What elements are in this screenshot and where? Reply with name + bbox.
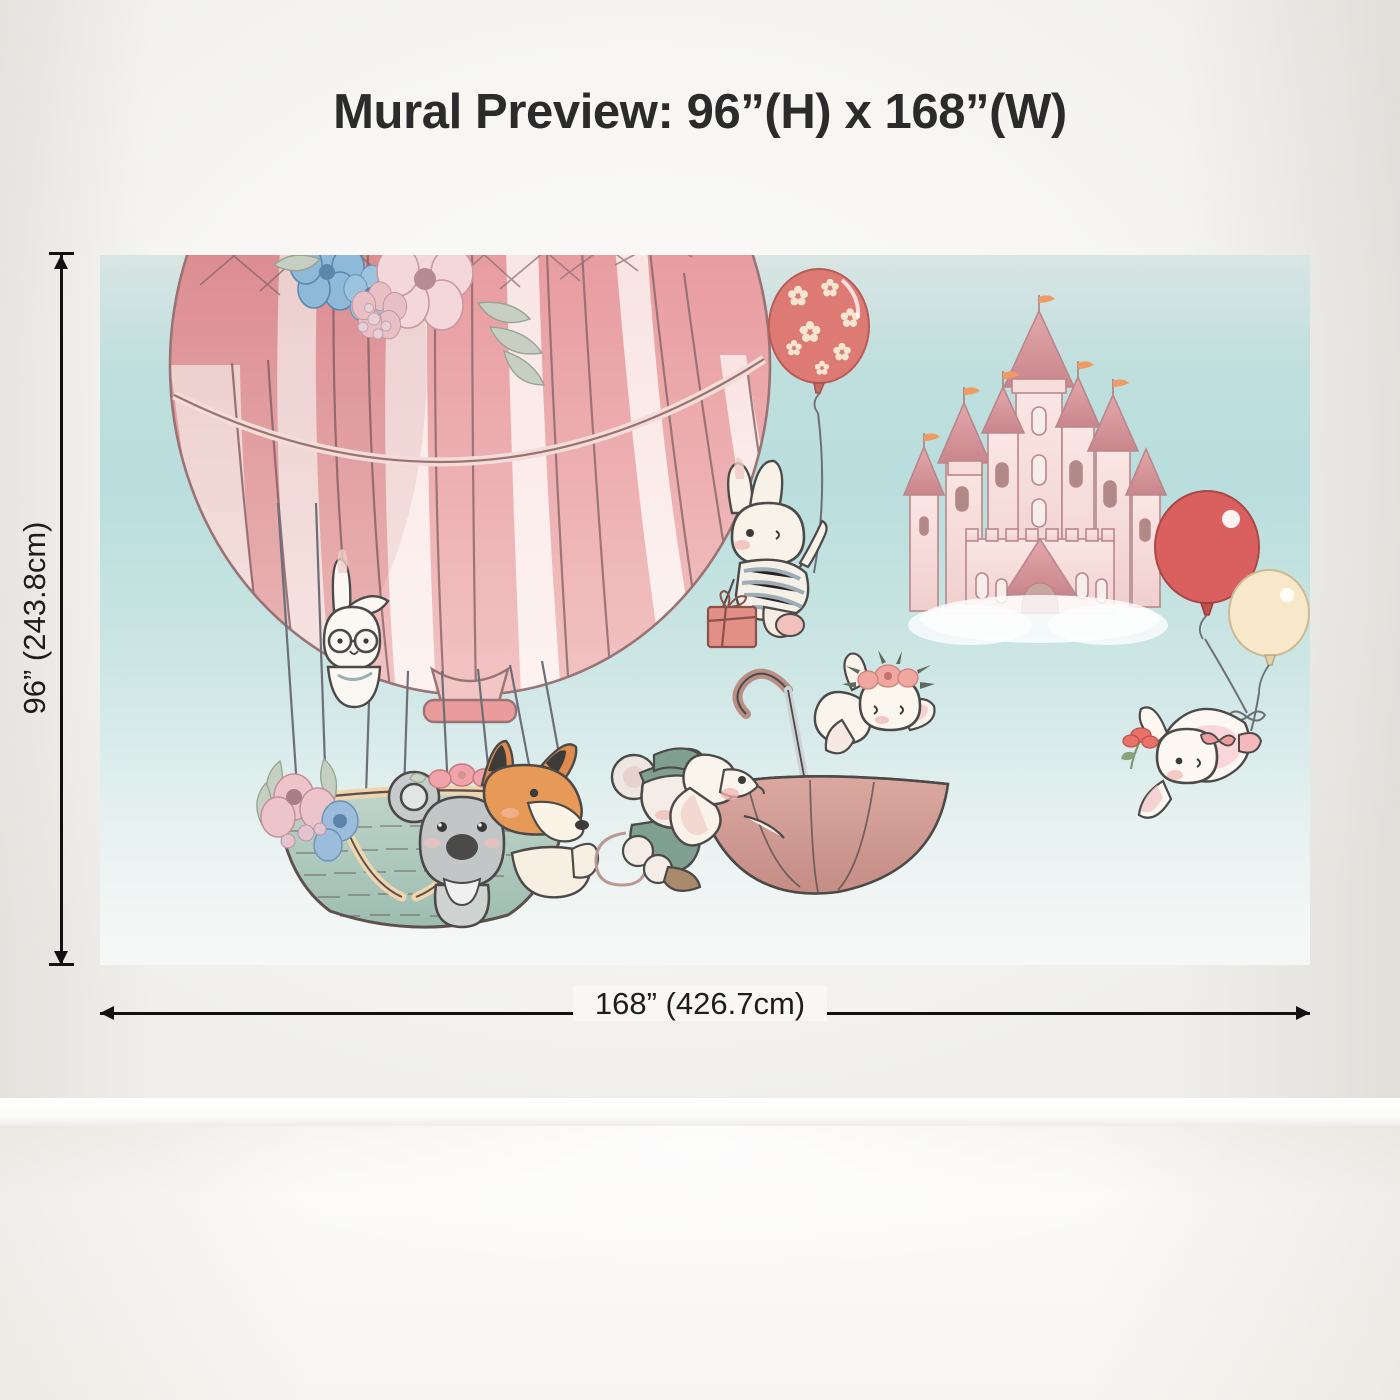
bunny-with-glasses <box>290 555 410 705</box>
height-dimension-arrow <box>60 255 63 965</box>
height-dimension-label: 96” (243.8cm) <box>17 418 53 818</box>
height-tick-top <box>49 252 74 255</box>
width-dimension-text: 168” (426.7cm) <box>573 986 827 1021</box>
width-dimension-label: 168” (426.7cm) <box>0 986 1400 1022</box>
mural-preview-image <box>100 255 1310 965</box>
bunny-with-two-balloons <box>1135 485 1310 815</box>
page-title: Mural Preview: 96”(H) x 168”(W) <box>0 84 1400 140</box>
bunny-with-gift <box>704 447 864 647</box>
panel-label-row <box>0 214 1400 246</box>
floor-sheen <box>0 1126 1400 1400</box>
fox <box>460 731 600 911</box>
umbrella-boat-bunnies <box>670 630 1000 910</box>
wood-floor <box>0 1126 1400 1400</box>
height-tick-bottom <box>49 963 74 966</box>
baseboard <box>0 1098 1400 1128</box>
